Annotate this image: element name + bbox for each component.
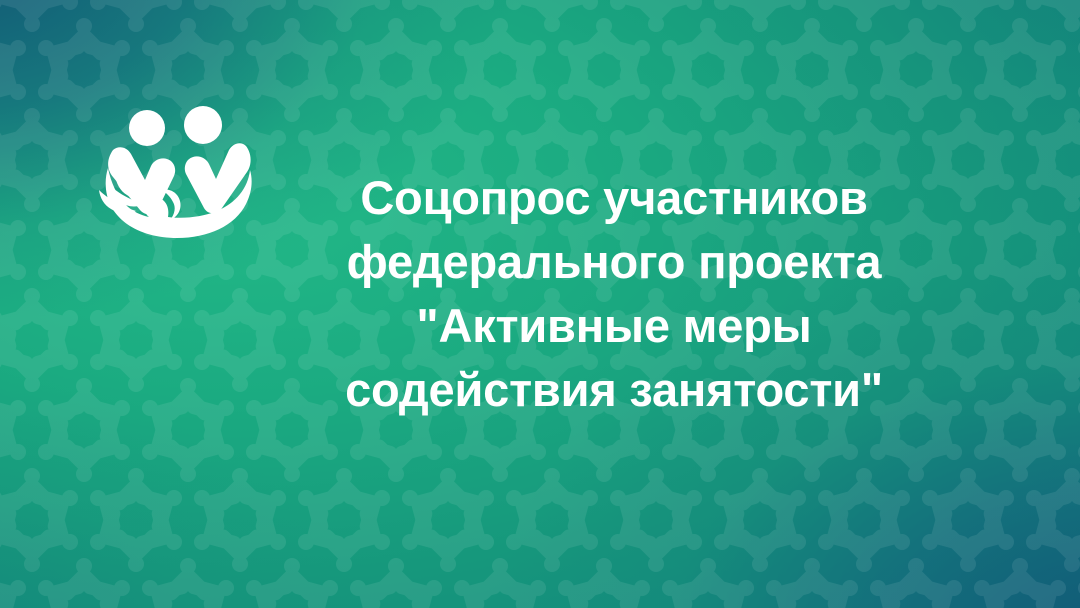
title-line-3: "Активные меры	[318, 294, 910, 358]
title-line-1: Соцопрос участников	[318, 166, 910, 230]
two-people-in-hand-logo	[96, 104, 262, 240]
title-line-4: содействия занятости"	[318, 358, 910, 422]
title-line-2: федерального проекта	[318, 230, 910, 294]
slide-title: Соцопрос участников федерального проекта…	[318, 166, 910, 422]
title-slide: Соцопрос участников федерального проекта…	[0, 0, 1080, 608]
